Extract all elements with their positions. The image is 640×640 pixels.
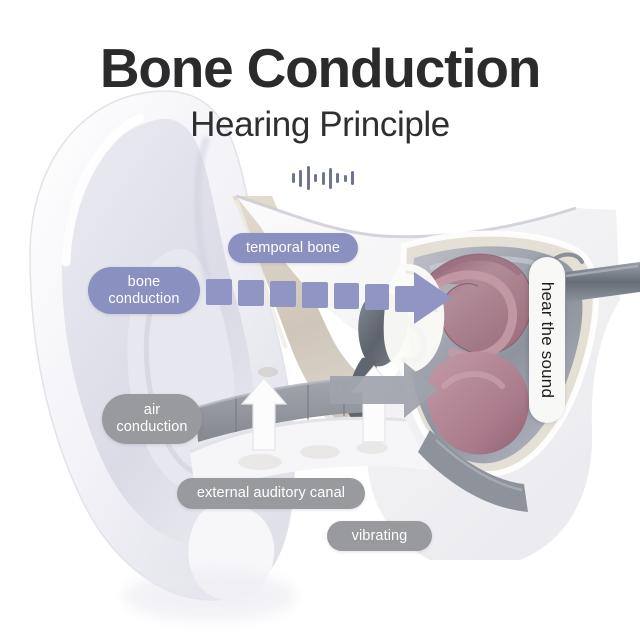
page-subtitle: Hearing Principle — [0, 104, 640, 146]
bone-conduction-infographic: Bone Conduction Hearing Principle bone c… — [0, 0, 640, 640]
waveform-bar — [329, 168, 332, 189]
outer-ear-pinna — [30, 91, 296, 622]
waveform-bar — [351, 171, 354, 185]
label-hear-the-sound[interactable]: hear the sound — [529, 257, 565, 423]
waveform-bar — [307, 166, 310, 190]
waveform-bar — [322, 172, 325, 185]
label-vibrating[interactable]: vibrating — [327, 521, 432, 551]
waveform-bar — [314, 174, 317, 182]
waveform-bar — [299, 170, 302, 187]
waveform-bar — [344, 175, 347, 182]
label-temporal-bone[interactable]: temporal bone — [228, 233, 358, 263]
waveform-bar — [336, 173, 339, 183]
waveform-bar — [292, 173, 295, 183]
label-air-conduction[interactable]: air conduction — [102, 394, 202, 444]
label-bone-conduction[interactable]: bone conduction — [88, 267, 200, 314]
label-external-auditory-canal[interactable]: external auditory canal — [177, 478, 365, 509]
page-title: Bone Conduction — [0, 38, 640, 98]
sound-waveform-icon — [292, 163, 354, 193]
